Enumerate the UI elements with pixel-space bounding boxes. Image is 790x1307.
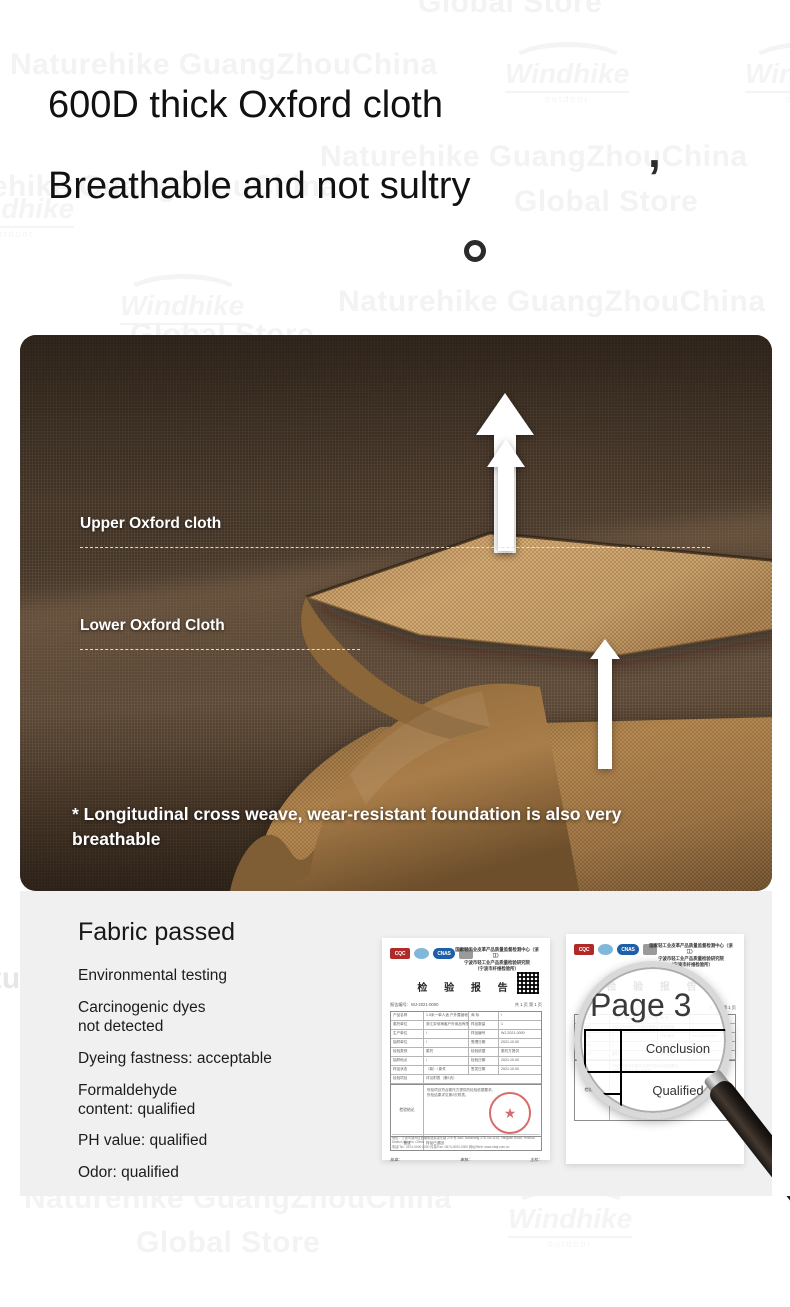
headline-period xyxy=(464,240,488,264)
signature-inspect: 主检： xyxy=(530,1157,542,1163)
watermark-line1: Naturehike GuangZhouChina xyxy=(10,48,438,82)
brand-watermark: Windhike outdoor xyxy=(745,60,790,104)
circle-period-icon xyxy=(464,240,486,262)
panel-right-margin xyxy=(772,891,790,1196)
issuing-organization: 国家轻工业皮革产品质量监督检测中心（浙江） 宁波市轻工业产品质量检验研究院 （宁… xyxy=(454,947,540,973)
table-cell: 检验日期 xyxy=(469,1057,499,1065)
cert-list-item: Formaldehyde content: qualified xyxy=(78,1082,378,1120)
report-pagination: 共 1 页 第 1 页 xyxy=(515,1002,542,1008)
brand-watermark-sub: outdoor xyxy=(505,91,629,104)
headline-comma: , xyxy=(648,128,661,174)
signature-row: 批准： 审核： 主检： xyxy=(390,1157,542,1163)
table-cell: 受理日期 xyxy=(469,1039,499,1047)
conclusion-row: 检验结论 所检项目符合委托方提供的检验依据要求， 所检结果详见第2页附表。 ★ xyxy=(391,1084,541,1136)
table-cell: 浙江奈彻海客户外用品有限公司 xyxy=(424,1021,469,1029)
cqc-logo-icon: CQC xyxy=(574,944,594,955)
report-meta: 报告编号：WJ-2021-0000 共 1 页 第 1 页 xyxy=(390,1002,542,1008)
watermark-line2: Global Store xyxy=(514,185,698,219)
table-cell: 样品状态 xyxy=(391,1066,424,1074)
table-cell: 1 xyxy=(499,1021,541,1029)
fabric-certification-panel: Fabric passed Environmental testing Carc… xyxy=(20,891,772,1196)
table-cell: 委托方提供 xyxy=(499,1048,541,1056)
table-cell: 抽样地点 xyxy=(391,1057,424,1065)
brand-watermark-name: Windhike xyxy=(120,290,244,321)
conclusion-text: 所检项目符合委托方提供的检验依据要求， 所检结果详见第2页附表。 xyxy=(427,1088,495,1097)
table-row: 样品状态 （新）/ 新件 签发日期 2021.10.00 xyxy=(391,1066,541,1075)
ilac-mra-logo-icon xyxy=(598,944,613,955)
airflow-arrow-small-icon xyxy=(487,439,525,556)
table-cell: 1.5米一单人适 户外露营帐篷小 xyxy=(424,1012,469,1020)
magnifier-lens: Page 3 Conclusion Qualified xyxy=(574,961,732,1119)
table-cell: 2021.10.00 xyxy=(499,1066,541,1074)
table-horizontal-rule xyxy=(586,1071,728,1073)
cert-list-item: Dyeing fastness: acceptable xyxy=(78,1050,378,1069)
label-upper-oxford-cloth: Upper Oxford cloth xyxy=(80,515,221,533)
table-cell: 签发日期 xyxy=(469,1066,499,1074)
table-row: 产品名称 1.5米一单人适 户外露营帐篷小 商 标 / xyxy=(391,1012,541,1021)
conclusion-label: 检验结论 xyxy=(391,1085,424,1136)
cnas-logo-icon: CNAS xyxy=(433,948,455,959)
table-row: 生产单位 / 样品编号 WJ-2021-0000 xyxy=(391,1030,541,1039)
brand-arc-icon xyxy=(508,42,628,86)
table-cell: （新）/ 新件 xyxy=(424,1066,469,1074)
table-cell: 抽样单位 xyxy=(391,1039,424,1047)
cnas-logo-icon: CNAS xyxy=(617,944,639,955)
table-cell: 商 标 xyxy=(469,1012,499,1020)
cert-item-list: Environmental testing Carcinogenic dyes … xyxy=(78,967,378,1196)
table-row: 抽样单位 / 受理日期 2021.10.00 xyxy=(391,1039,541,1048)
table-cell: / xyxy=(424,1039,469,1047)
table-cell: 生产单位 xyxy=(391,1030,424,1038)
conclusion-header: Conclusion xyxy=(626,1041,730,1056)
cert-list-item: Odor: qualified xyxy=(78,1164,378,1183)
signature-approve: 批准： xyxy=(390,1157,402,1163)
brand-watermark: Windhike outdoor xyxy=(508,1205,632,1249)
product-detail-page: Global Store Naturehike GuangZhouChina N… xyxy=(0,0,790,1307)
brand-watermark-name: Windhike xyxy=(508,1203,632,1234)
fabric-hero-image: Upper Oxford cloth Lower Oxford Cloth * … xyxy=(20,335,772,891)
brand-watermark-sub: outdoor xyxy=(508,1236,632,1249)
watermark-line2: Global Store xyxy=(136,1226,320,1260)
label-lower-oxford-cloth: Lower Oxford Cloth xyxy=(80,617,225,635)
brand-watermark-name: Windhike xyxy=(745,58,790,89)
hero-footnote: * Longitudinal cross weave, wear-resista… xyxy=(72,802,632,851)
cert-list-item: Carcinogenic dyes not detected xyxy=(78,999,378,1037)
table-cell: 样品数量 xyxy=(469,1021,499,1029)
table-row: 检验类别 委托 检验依据 委托方提供 xyxy=(391,1048,541,1057)
table-cell: / xyxy=(424,1057,469,1065)
table-cell: 委托 xyxy=(424,1048,469,1056)
table-row: 委托单位 浙江奈彻海客户外用品有限公司 样品数量 1 xyxy=(391,1021,541,1030)
table-cell: / xyxy=(424,1030,469,1038)
cert-list-item: PH value: qualified xyxy=(78,1132,378,1151)
watermark-line2: Global Store xyxy=(418,0,602,20)
headline-line-2: Breathable and not sultry xyxy=(48,167,471,205)
brand-watermark-name: Windhike xyxy=(505,58,629,89)
signature-review: 审核： xyxy=(460,1157,472,1163)
brand-arc-icon xyxy=(748,42,790,86)
qr-code-icon xyxy=(516,971,540,995)
cert-panel-title: Fabric passed xyxy=(78,918,235,947)
brand-watermark-sub: outdoor xyxy=(0,226,74,239)
magnified-conclusion-table: Conclusion Qualified xyxy=(584,1029,730,1115)
table-cell: 2021.10.00 xyxy=(499,1057,541,1065)
brand-watermark: Windhike outdoor xyxy=(120,292,244,336)
table-cell: 产品名称 xyxy=(391,1012,424,1020)
official-stamp-icon: ★ xyxy=(489,1092,531,1134)
airflow-arrow-bottom-icon xyxy=(590,639,620,774)
table-cell: 样品编号 xyxy=(469,1030,499,1038)
inspection-report-document: CQC CNAS 国家轻工业皮革产品质量监督检测中心（浙江） 宁波市轻工业产品质… xyxy=(382,938,550,1160)
table-cell: 详见附表（第2页） xyxy=(424,1075,541,1083)
page-number-label: Page 3 xyxy=(590,987,691,1024)
watermark-line1: Naturehike GuangZhouChina xyxy=(338,285,766,319)
table-cell: 检验类别 xyxy=(391,1048,424,1056)
table-horizontal-rule-short xyxy=(586,1093,620,1095)
table-cell: 检验项目 xyxy=(391,1075,424,1083)
report-number: 报告编号：WJ-2021-0000 xyxy=(390,1002,438,1008)
divider-upper xyxy=(80,547,710,548)
document-footer: 地址：宁波市鄞州区首南街道泰康东路 278 号 Add: Nanshang 27… xyxy=(392,1134,540,1150)
headline-block: 600D thick Oxford cloth Breathable and n… xyxy=(48,86,471,205)
cert-list-item: Environmental testing xyxy=(78,967,378,986)
cqc-logo-icon: CQC xyxy=(390,948,410,959)
brand-arc-icon xyxy=(123,274,243,318)
brand-watermark-sub: outdoor xyxy=(745,91,790,104)
divider-lower xyxy=(80,649,360,650)
ilac-mra-logo-icon xyxy=(414,948,429,959)
table-row: 检验项目 详见附表（第2页） xyxy=(391,1075,541,1084)
headline-line-1: 600D thick Oxford cloth xyxy=(48,86,471,124)
report-data-table: 产品名称 1.5米一单人适 户外露营帐篷小 商 标 / 委托单位 浙江奈彻海客户… xyxy=(390,1011,542,1151)
table-cell: 2021.10.00 xyxy=(499,1039,541,1047)
brand-watermark: Windhike outdoor xyxy=(505,60,629,104)
table-row: 抽样地点 / 检验日期 2021.10.00 xyxy=(391,1057,541,1066)
table-cell: 检验依据 xyxy=(469,1048,499,1056)
table-cell: 委托单位 xyxy=(391,1021,424,1029)
table-cell: / xyxy=(499,1012,541,1020)
table-cell: WJ-2021-0000 xyxy=(499,1030,541,1038)
